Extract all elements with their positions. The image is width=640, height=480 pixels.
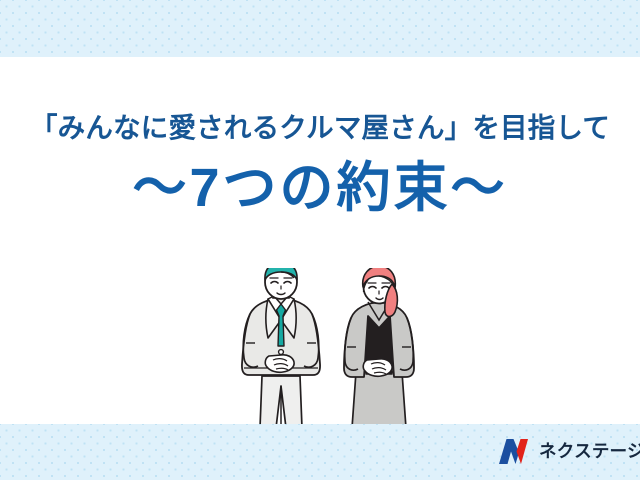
staff-illustration-svg xyxy=(238,268,424,428)
headline-block: 「みんなに愛されるクルマ屋さん」を目指して 〜7つの約束〜 xyxy=(0,112,640,219)
clasped-hands xyxy=(363,359,392,376)
bowing-staff-illustration xyxy=(238,268,424,428)
headline-secondary-text: 〜7つの約束〜 xyxy=(0,158,640,218)
male-staff-figure xyxy=(242,268,320,428)
promotional-banner: 「みんなに愛されるクルマ屋さん」を目指して 〜7つの約束〜 xyxy=(0,0,640,480)
top-dot-band xyxy=(0,0,640,57)
brand-logo: ネクステージ xyxy=(498,438,640,465)
female-staff-figure xyxy=(344,268,414,428)
nextage-n-mark-icon xyxy=(498,438,532,465)
brand-wordmark: ネクステージ xyxy=(539,443,640,461)
headline-primary-text: 「みんなに愛されるクルマ屋さん」を目指して xyxy=(0,112,640,144)
clasped-hands xyxy=(265,355,294,372)
